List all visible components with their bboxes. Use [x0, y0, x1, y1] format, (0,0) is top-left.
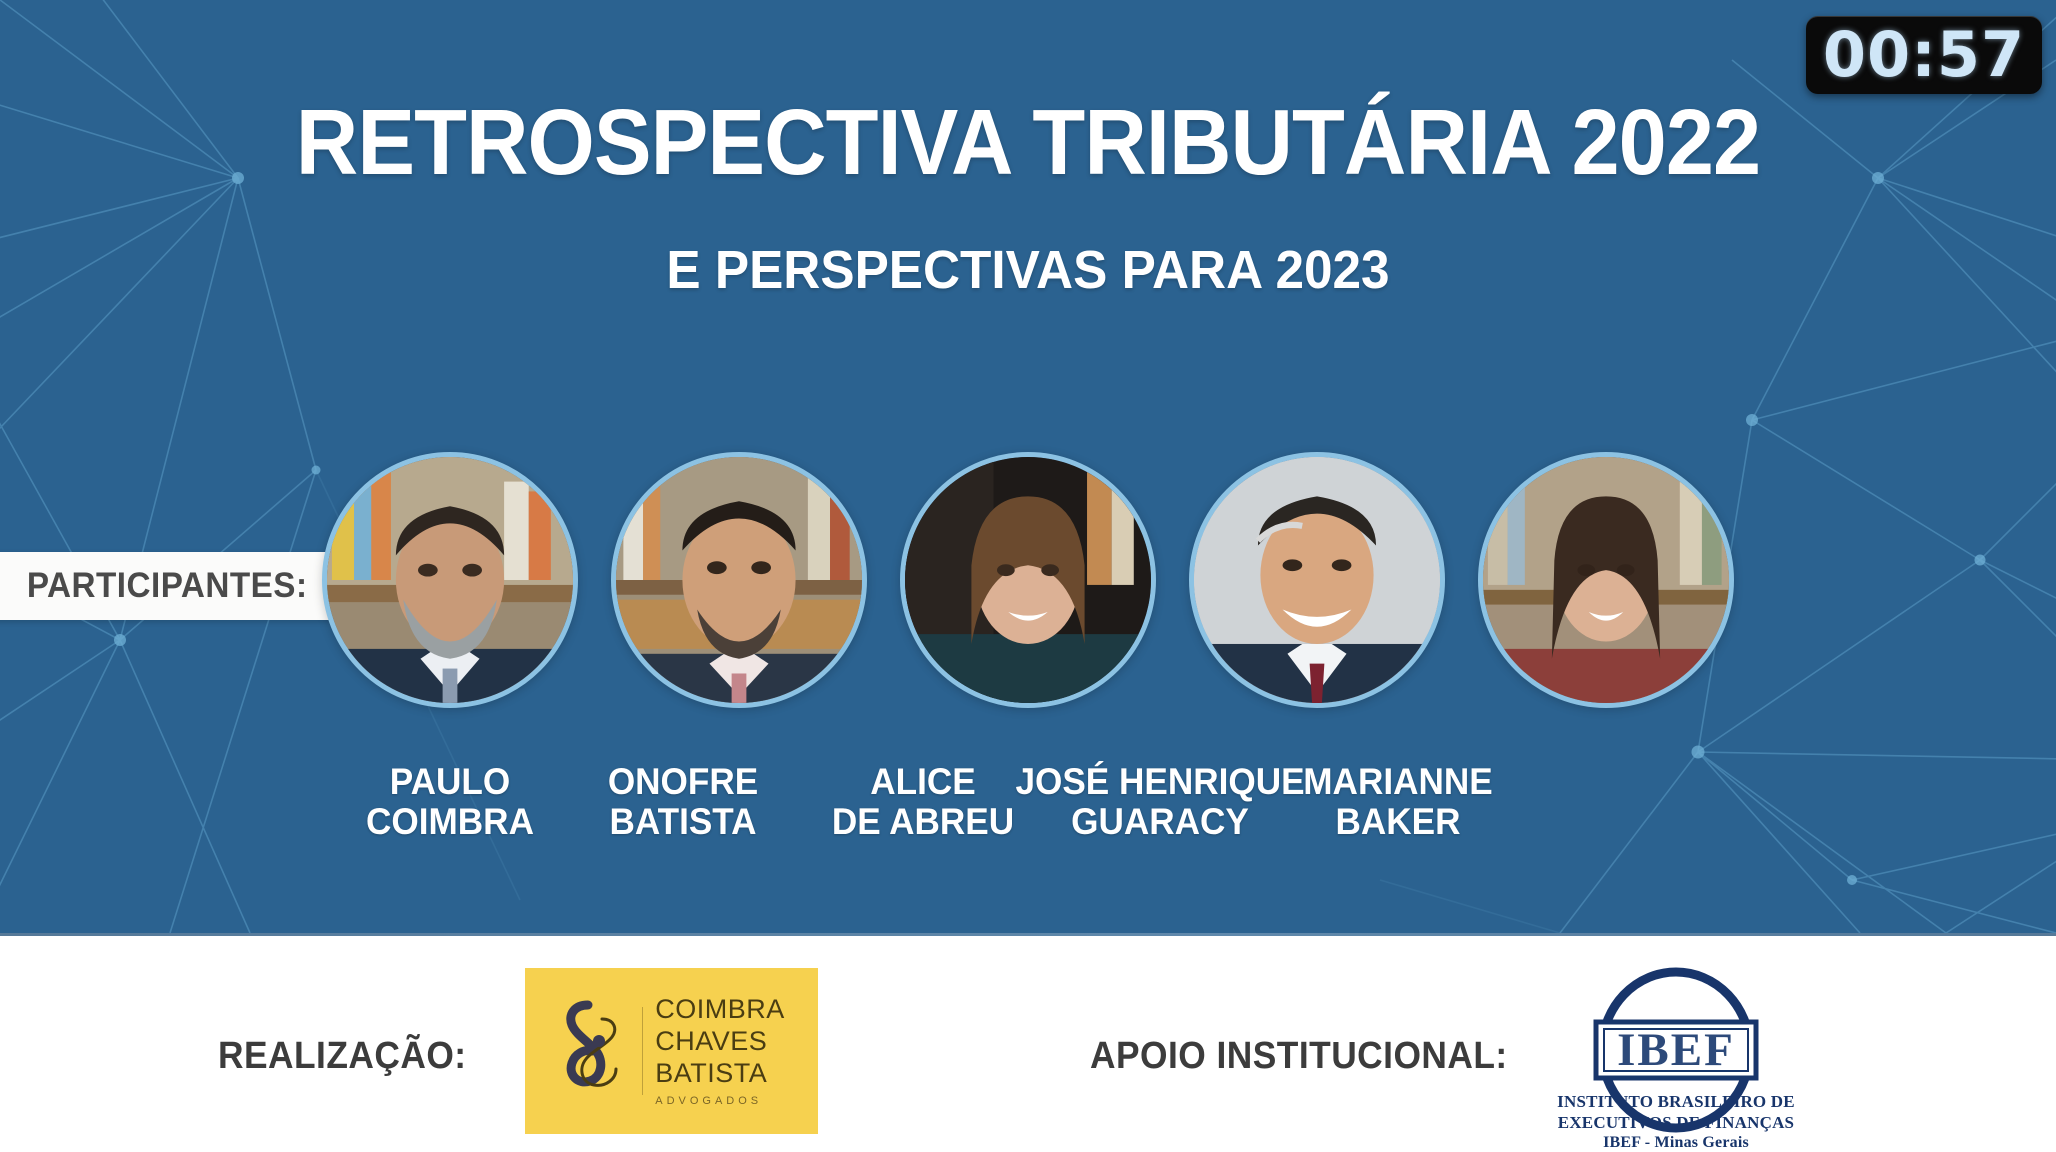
sponsor-word-1: COIMBRA	[655, 994, 785, 1026]
sponsor-logo-coimbra-chaves-batista: COIMBRA CHAVES BATISTA ADVOGADOS	[525, 968, 818, 1134]
avatar	[1478, 452, 1734, 708]
ampersand-monogram-icon	[558, 999, 630, 1103]
participant-avatar-0	[322, 452, 578, 708]
footer-divider	[0, 933, 2056, 936]
countdown-timer[interactable]: 00:57	[1806, 16, 2042, 94]
participant-avatar-row	[322, 452, 1734, 710]
page-subtitle: E PERSPECTIVAS PARA 2023	[51, 243, 2004, 297]
participant-first-name: MARIANNE	[1181, 762, 1614, 802]
realizacao-label: REALIZAÇÃO:	[218, 1035, 467, 1078]
avatar	[1189, 452, 1445, 708]
avatar	[322, 452, 578, 708]
participant-avatar-3	[1189, 452, 1445, 708]
participant-avatar-1	[611, 452, 867, 708]
apoio-institucional-label: APOIO INSTITUCIONAL:	[1090, 1035, 1508, 1078]
institutional-logo-ibef: IBEF	[1568, 962, 1784, 1148]
sponsor-word-3: BATISTA	[655, 1058, 785, 1090]
participantes-label: PARTICIPANTES:	[6, 566, 308, 606]
page-title: RETROSPECTIVA TRIBUTÁRIA 2022	[72, 96, 1984, 189]
sponsor-logo-wordmark: COIMBRA CHAVES BATISTA ADVOGADOS	[655, 994, 785, 1108]
countdown-timer-value: 00:57	[1823, 24, 2025, 86]
participantes-banner: PARTICIPANTES:	[0, 552, 338, 620]
participant-avatar-4	[1478, 452, 1734, 708]
participant-avatar-2	[900, 452, 1156, 708]
svg-text:IBEF: IBEF	[1617, 1024, 1735, 1076]
participant-name-4: MARIANNE BAKER	[1181, 762, 1614, 842]
logo-divider	[642, 1007, 643, 1095]
sponsor-word-sub: ADVOGADOS	[655, 1095, 785, 1108]
presentation-slide: RETROSPECTIVA TRIBUTÁRIA 2022 E PERSPECT…	[0, 0, 2056, 1152]
participant-last-name: BAKER	[1181, 802, 1614, 842]
avatar	[900, 452, 1156, 708]
sponsor-word-2: CHAVES	[655, 1026, 785, 1058]
slide-background: RETROSPECTIVA TRIBUTÁRIA 2022 E PERSPECT…	[0, 0, 2056, 933]
avatar	[611, 452, 867, 708]
